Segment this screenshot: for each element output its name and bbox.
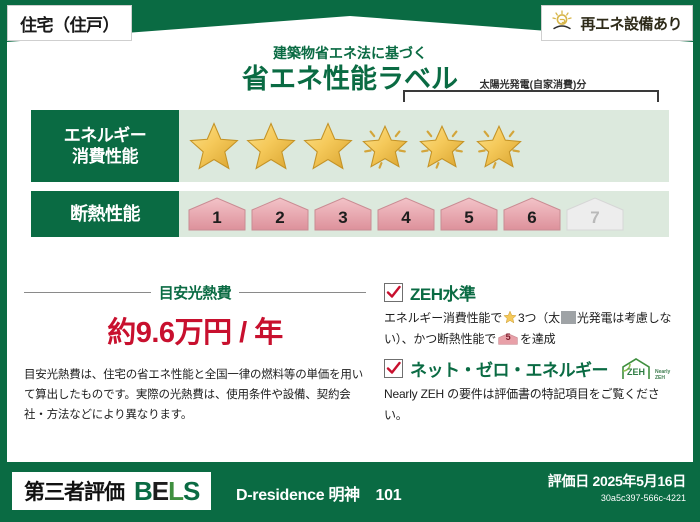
check-icon [384,359,403,378]
evaluation-date: 評価日 2025年5月16日 [548,471,686,491]
insulation-levels: 1 2 3 4 5 [179,191,669,237]
zeh-body-text-1: エネルギー消費性能で [384,311,502,325]
house-icon: 1 [187,196,247,232]
house-icon-inactive: 7 [565,196,625,232]
house-icon: 3 [313,196,373,232]
insulation-row: 断熱性能 1 2 3 [31,191,669,237]
insulation-key-label: 断熱性能 [70,203,140,226]
bels-letter-b: B [134,476,152,506]
insulation-level-number: 1 [187,208,247,228]
zeh-standard-title: ZEH水準 [410,280,476,305]
zeh-logo: ZEH Nearly ZEH [619,357,670,381]
zeh-body-badge: 5 [498,330,518,345]
insulation-level-number: 3 [313,208,373,228]
evaluation-id: 30a5c397-566c-4221 [548,493,686,503]
dwelling-type-label: 住宅（住戸） [20,11,119,36]
bels-letter-s: S [183,476,199,506]
sun-icon [550,10,574,37]
solar-generation-note: 太陽光発電(自家消費)分 [403,76,663,91]
house-icon: 2 [250,196,310,232]
cost-note: 目安光熱費は、住宅の省エネ性能と全国一律の燃料等の単価を用いて算出したものです。… [24,365,366,425]
rule-left [24,292,151,293]
energy-consumption-stars: 太陽光発電(自家消費)分 [179,110,669,182]
evaluation-info: 評価日 2025年5月16日 30a5c397-566c-4221 [548,471,686,503]
star-icon [301,119,355,173]
insulation-level-number: 4 [376,208,436,228]
energy-key-line-2: 消費性能 [72,146,138,167]
star-icon [472,119,526,173]
heading-subtitle: 建築物省エネ法に基づく [0,46,700,61]
zeh-body-text-4: を達成 [520,332,555,346]
redacted-character [561,311,576,324]
star-icon [187,119,241,173]
energy-key-line-1: エネルギー [64,125,147,146]
svg-text:ZEH: ZEH [627,367,645,377]
insulation-level-number: 2 [250,208,310,228]
cost-heading: 目安光熱費 [24,282,366,303]
house-icon: 6 [502,196,562,232]
insulation-level-number: 5 [439,208,499,228]
insulation-house-scale: 1 2 3 4 5 [179,196,625,232]
house-icon: 5 [439,196,499,232]
check-icon [384,283,403,302]
star-icon [358,119,412,173]
bels-chip: 第三者評価 BELS [12,472,211,510]
star-rating [179,119,526,173]
star-icon [415,119,469,173]
cost-title: 目安光熱費 [159,282,232,303]
rule-right [239,292,366,293]
zeh-netzero-block: ネット・ゼロ・エネルギー ZEH Nearly ZEH Nearly ZE [384,356,676,425]
zeh-logo-sub-2: ZEH [655,376,670,381]
insulation-level-number: 6 [502,208,562,228]
house-icon-small: 5 [498,332,518,346]
renewable-badge-label: 再エネ設備あり [580,13,682,34]
solar-bracket [403,90,659,102]
building-name: D-residence 明神 101 [236,481,401,505]
zeh-netzero-title-row: ネット・ゼロ・エネルギー ZEH Nearly ZEH [384,356,676,381]
bels-letter-e: E [152,476,168,506]
insulation-key: 断熱性能 [31,191,179,237]
zeh-standard-body: エネルギー消費性能で3つ（太光発電は考慮しない）、かつ断熱性能で5を達成 [384,308,676,349]
cost-value: 約9.6万円 / 年 [24,309,366,351]
zeh-standard-block: ZEH水準 エネルギー消費性能で3つ（太光発電は考慮しない）、かつ断熱性能で5を… [384,280,676,349]
zeh-body-text-2: 3つ（太 [518,311,560,325]
energy-consumption-row: エネルギー 消費性能 太陽光発電(自家消費)分 [31,110,669,182]
energy-performance-label: 住宅（住戸） 再エネ設備あり 建築物省エネ法に基づく 省エネ性能ラベル [0,0,700,522]
zeh-netzero-body: Nearly ZEH の要件は評価書の特記項目をご覧ください。 [384,384,676,425]
performance-section: エネルギー 消費性能 太陽光発電(自家消費)分 断熱性能 [31,110,669,246]
star-icon-small [503,310,517,324]
bels-logo: BELS [134,476,199,507]
energy-consumption-key: エネルギー 消費性能 [31,110,179,182]
insulation-level-number: 7 [565,208,625,228]
renewable-equipment-badge: 再エネ設備あり [541,5,693,41]
house-icon: 4 [376,196,436,232]
bels-letter-l: L [168,476,183,506]
third-party-evaluation-label: 第三者評価 [24,476,124,506]
star-icon [244,119,298,173]
zeh-standard-title-row: ZEH水準 [384,280,676,305]
dwelling-type-chip: 住宅（住戸） [7,5,132,41]
zeh-netzero-title: ネット・ゼロ・エネルギー [410,356,608,381]
label-footer: 第三者評価 BELS D-residence 明神 101 評価日 2025年5… [0,462,700,522]
